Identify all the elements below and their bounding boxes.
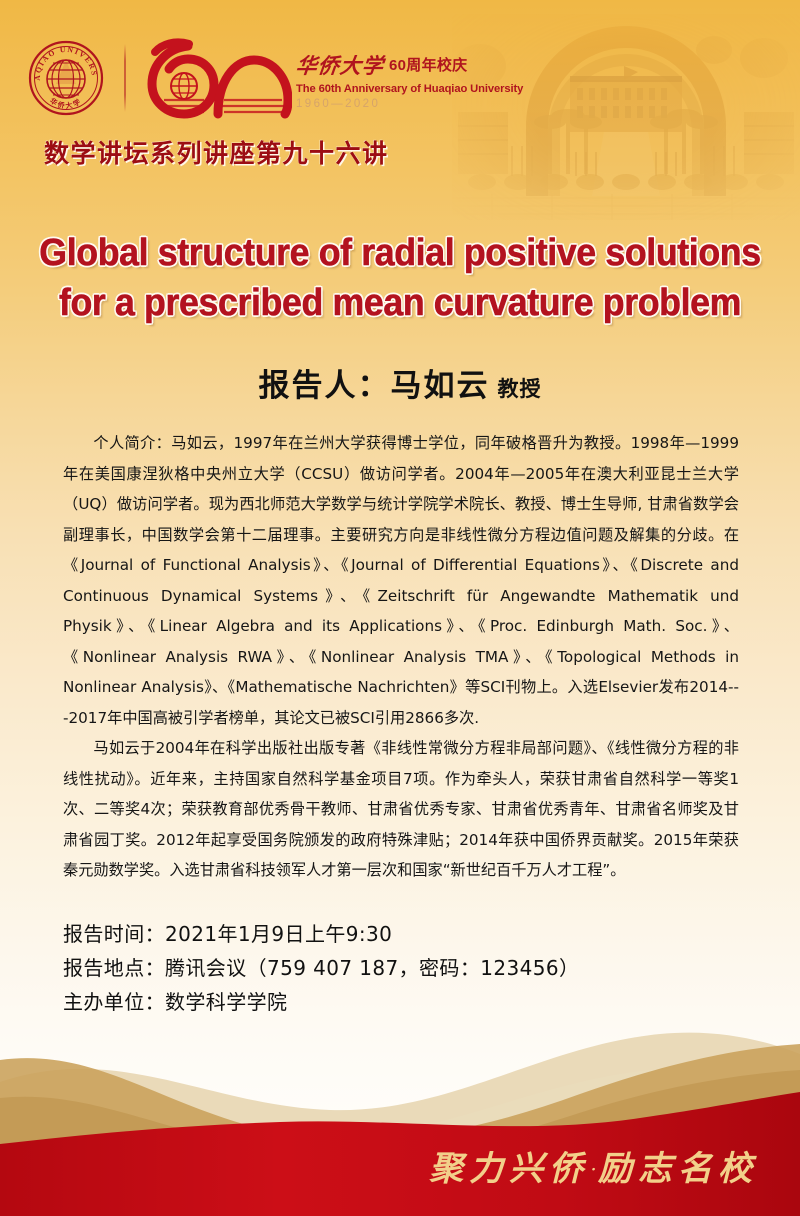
- 60th-anniversary-logo: [142, 38, 292, 120]
- event-time: 报告时间：2021年1月9日上午9:30: [63, 917, 753, 951]
- speaker-line: 报告人：马如云教授: [0, 360, 800, 405]
- event-location: 报告地点：腾讯会议（759 407 187，密码：123456）: [63, 951, 753, 985]
- lecture-title-line2: for a prescribed mean curvature problem: [24, 278, 776, 328]
- brand-name-cn: 华侨大学: [294, 50, 385, 80]
- slogan-left: 聚力兴侨: [429, 1149, 589, 1189]
- slogan-right: 励志名校: [598, 1149, 758, 1189]
- speaker-biography: 个人简介：马如云，1997年在兰州大学获得博士学位，同年破格晋升为教授。1998…: [63, 428, 739, 886]
- brand-anniversary-cn: 60周年校庆: [389, 54, 468, 75]
- anniversary-years: 1960—2020: [296, 98, 506, 110]
- lecture-series-label: 数学讲坛系列讲座第九十六讲: [44, 134, 464, 170]
- brand-name-en: The 60th Anniversary of Huaqiao Universi…: [296, 83, 506, 95]
- anniversary-text-block: 华侨大学60周年校庆 The 60th Anniversary of Huaqi…: [296, 50, 506, 110]
- poster-header: HUAQIAO UNIVERSITY 华侨大学: [0, 0, 800, 130]
- lecture-title-line1: Global structure of radial positive solu…: [24, 228, 776, 278]
- speaker-label: 报告人：: [259, 368, 391, 404]
- poster-root: HUAQIAO UNIVERSITY 华侨大学: [0, 0, 800, 1216]
- bio-paragraph-1: 个人简介：马如云，1997年在兰州大学获得博士学位，同年破格晋升为教授。1998…: [63, 428, 739, 733]
- footer-slogan: 聚力兴侨·励志名校: [0, 1141, 800, 1190]
- lecture-title: Global structure of radial positive solu…: [24, 228, 776, 328]
- bio-paragraph-2: 马如云于2004年在科学出版社出版专著《非线性常微分方程非局部问题》、《线性微分…: [63, 733, 739, 886]
- logo-divider: [124, 44, 126, 112]
- speaker-name: 马如云: [391, 368, 490, 404]
- speaker-title: 教授: [498, 377, 542, 401]
- slogan-separator-dot: ·: [591, 1162, 596, 1178]
- huaqiao-university-seal-logo: HUAQIAO UNIVERSITY 华侨大学: [28, 40, 104, 116]
